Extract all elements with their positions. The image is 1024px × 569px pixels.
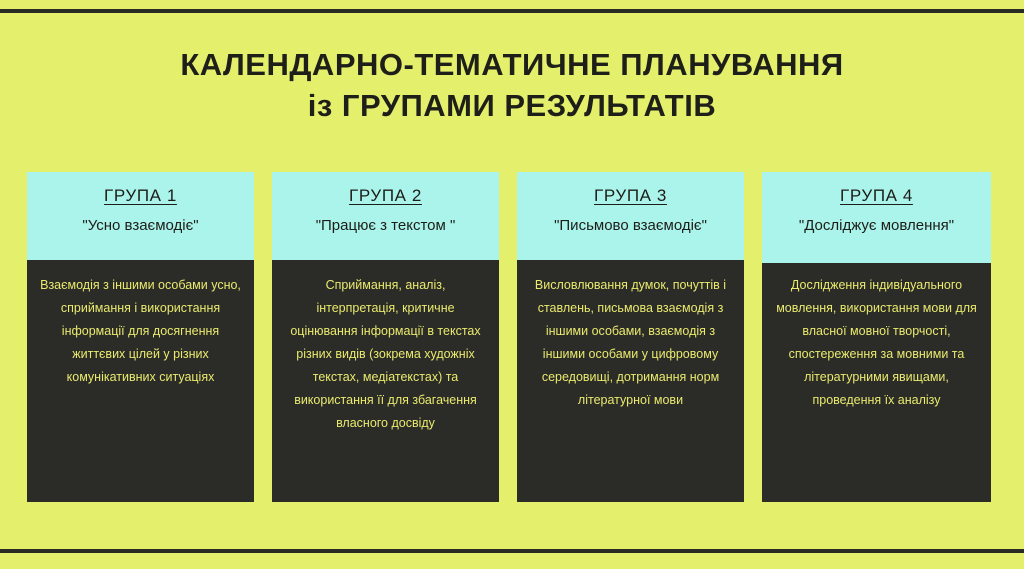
group-card-2: ГРУПА 2 "Працює з текстом " Сприймання, … [272, 172, 499, 502]
group-card-1-subtitle: "Усно взаємодіє" [37, 215, 244, 236]
group-card-1: ГРУПА 1 "Усно взаємодіє" Взаємодія з інш… [27, 172, 254, 502]
group-card-3-title: ГРУПА 3 [594, 186, 667, 206]
group-card-1-header: ГРУПА 1 "Усно взаємодіє" [27, 172, 254, 260]
group-card-4: ГРУПА 4 "Досліджує мовлення" Дослідження… [762, 172, 991, 502]
group-card-4-header: ГРУПА 4 "Досліджує мовлення" [762, 172, 991, 263]
group-card-2-body: Сприймання, аналіз, інтерпретація, крити… [272, 260, 499, 502]
group-card-4-title: ГРУПА 4 [840, 186, 913, 206]
group-card-2-title: ГРУПА 2 [349, 186, 422, 206]
group-card-1-title: ГРУПА 1 [104, 186, 177, 206]
page-title: КАЛЕНДАРНО-ТЕМАТИЧНЕ ПЛАНУВАННЯ із ГРУПА… [0, 44, 1024, 126]
page-title-line-1: КАЛЕНДАРНО-ТЕМАТИЧНЕ ПЛАНУВАННЯ [0, 44, 1024, 85]
group-card-3-body: Висловлювання думок, почуттів і ставлень… [517, 260, 744, 502]
group-cards-container: ГРУПА 1 "Усно взаємодіє" Взаємодія з інш… [27, 172, 997, 502]
group-card-2-header: ГРУПА 2 "Працює з текстом " [272, 172, 499, 260]
bottom-divider-rule [0, 549, 1024, 553]
group-card-3-header: ГРУПА 3 "Письмово взаємодіє" [517, 172, 744, 260]
slide-canvas: КАЛЕНДАРНО-ТЕМАТИЧНЕ ПЛАНУВАННЯ із ГРУПА… [0, 0, 1024, 569]
group-card-3: ГРУПА 3 "Письмово взаємодіє" Висловлюван… [517, 172, 744, 502]
top-divider-rule [0, 9, 1024, 13]
group-card-1-body: Взаємодія з іншими особами усно, сприйма… [27, 260, 254, 502]
group-card-2-subtitle: "Працює з текстом " [282, 215, 489, 236]
group-card-3-subtitle: "Письмово взаємодіє" [527, 215, 734, 236]
page-title-line-2: із ГРУПАМИ РЕЗУЛЬТАТІВ [0, 85, 1024, 126]
group-card-4-body: Дослідження індивідуального мовлення, ви… [762, 263, 991, 502]
group-card-4-subtitle: "Досліджує мовлення" [772, 215, 981, 236]
